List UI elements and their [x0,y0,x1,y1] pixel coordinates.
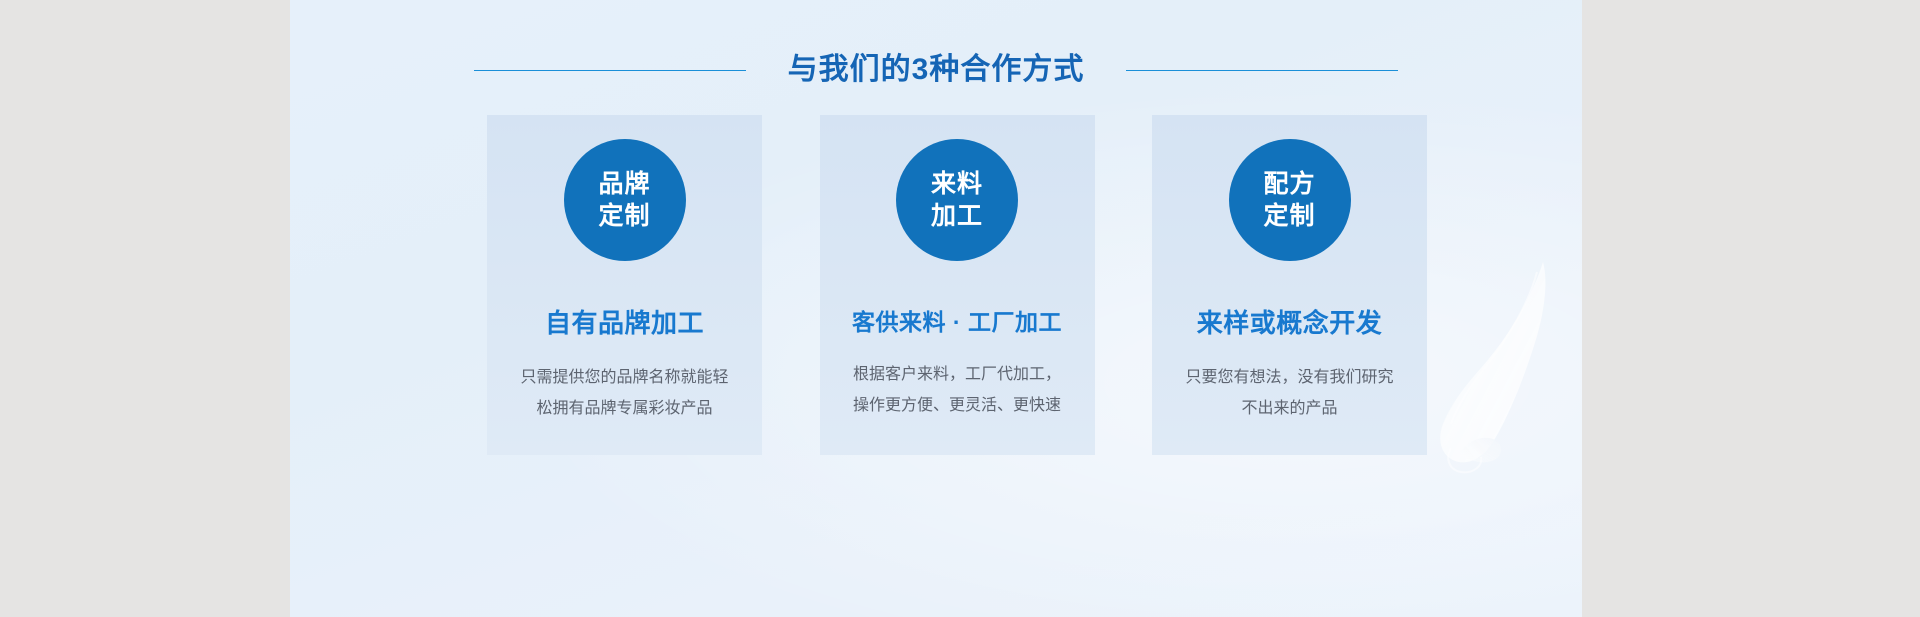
badge-line-2: 加工 [931,200,983,232]
card-body-text: 只需提供您的品牌名称就能轻松拥有品牌专属彩妆产品 [520,362,730,424]
title-rule-right [1126,70,1398,71]
service-card-material-processing[interactable]: 来料 加工 客供来料 · 工厂加工 根据客户来料，工厂代加工，操作更方便、更灵活… [820,115,1095,455]
card-heading: 来样或概念开发 [1197,303,1383,340]
title-rule-left [474,70,746,71]
badge-line-2: 定制 [598,200,650,232]
content-panel: 与我们的3种合作方式 品牌 定制 自有品牌加工 只需提供您的品牌名称就能轻松拥有… [290,0,1582,617]
service-card-formula-customization[interactable]: 配方 定制 来样或概念开发 只要您有想法，没有我们研究不出来的产品 [1152,115,1427,455]
badge-line-1: 品牌 [598,168,650,200]
card-badge-circle: 配方 定制 [1229,139,1351,261]
card-heading: 自有品牌加工 [545,303,704,340]
banner-section: 与我们的3种合作方式 品牌 定制 自有品牌加工 只需提供您的品牌名称就能轻松拥有… [0,0,1920,617]
card-heading: 客供来料 · 工厂加工 [852,303,1062,337]
card-badge-circle: 来料 加工 [896,139,1018,261]
card-body-text: 根据客户来料，工厂代加工，操作更方便、更灵活、更快速 [852,359,1062,421]
badge-line-2: 定制 [1263,200,1315,232]
card-badge-circle: 品牌 定制 [564,139,686,261]
service-card-brand-customization[interactable]: 品牌 定制 自有品牌加工 只需提供您的品牌名称就能轻松拥有品牌专属彩妆产品 [487,115,762,455]
badge-line-1: 来料 [931,168,983,200]
badge-line-1: 配方 [1263,168,1315,200]
card-body-text: 只要您有想法，没有我们研究不出来的产品 [1185,362,1395,424]
feather-decoration-icon [1425,258,1575,478]
cards-container: 品牌 定制 自有品牌加工 只需提供您的品牌名称就能轻松拥有品牌专属彩妆产品 来料… [487,115,1427,455]
section-title: 与我们的3种合作方式 [788,55,1085,85]
section-title-row: 与我们的3种合作方式 [290,55,1582,85]
